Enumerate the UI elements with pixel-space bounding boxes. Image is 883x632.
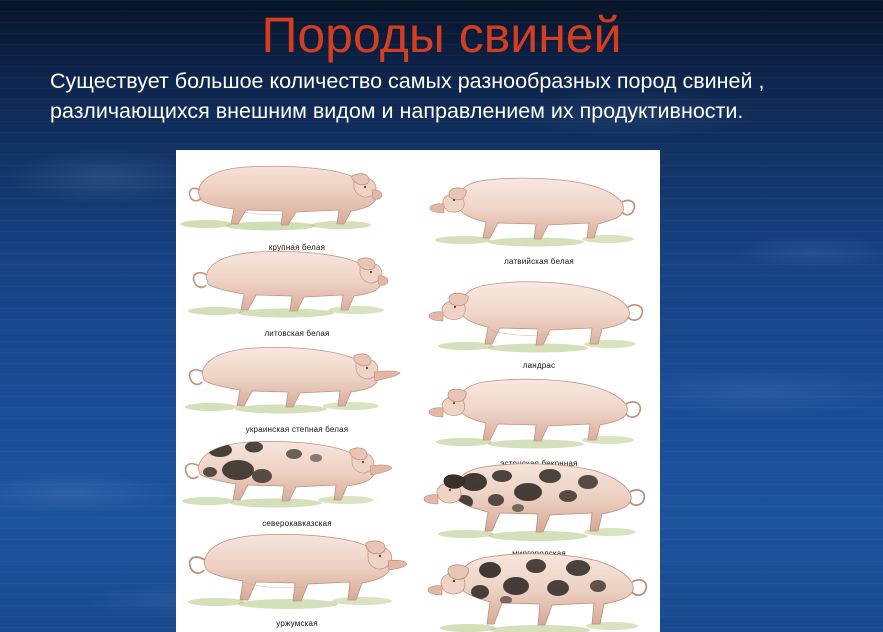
pig-illustration-severokavkazskaya — [176, 428, 418, 518]
pig-illustration-mirgorodskaya — [418, 452, 660, 548]
pig-illustration-krupnaya-belaya — [176, 152, 418, 242]
breeds-grid: крупная белая — [176, 150, 660, 632]
breed-cell: северокавказская — [176, 428, 418, 529]
breed-cell: латвийская белая — [418, 166, 660, 267]
pig-illustration-litovskaya-belaya — [176, 238, 418, 328]
page-title: Породы свиней — [0, 6, 883, 64]
breed-cell: уржумская — [176, 522, 418, 629]
pig-illustration-latviyskaya-belaya — [418, 166, 660, 256]
breed-cell: литовская белая — [176, 238, 418, 339]
breed-label: уржумская — [176, 619, 418, 629]
pig-illustration-urzhumskaya — [176, 522, 418, 618]
breed-cell: ландрас — [418, 270, 660, 371]
breed-label: латвийская белая — [418, 257, 660, 267]
breeds-illustration-panel: крупная белая — [176, 150, 660, 632]
pig-illustration-belorusskaya-cherno-pestraya — [418, 542, 660, 632]
pig-illustration-estonskaya-bekonnaya — [418, 368, 660, 458]
pig-illustration-landras — [418, 270, 660, 360]
breed-cell: белорусская чёрно-пёстрая — [418, 542, 660, 632]
slide: Породы свиней Существует большое количес… — [0, 0, 883, 632]
slide-body-text: Существует большое количество самых разн… — [50, 66, 840, 126]
pig-illustration-ukrainskaya-stepnaya-belaya — [176, 334, 418, 424]
breed-cell: украинская степная белая — [176, 334, 418, 435]
